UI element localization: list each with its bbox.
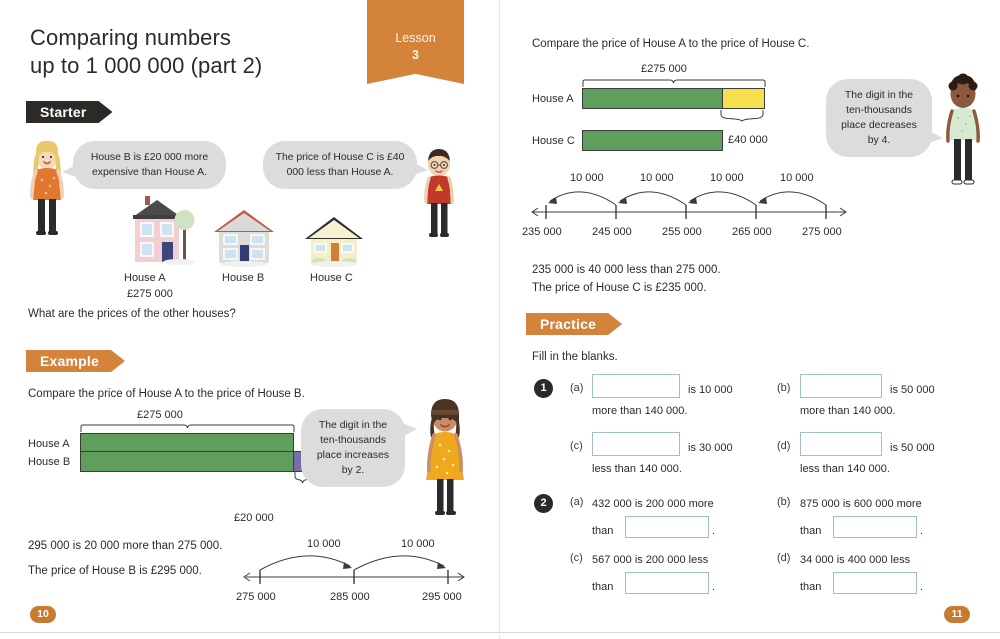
q2b-letter: (b) (777, 496, 790, 508)
example-jump-label-2: 10 000 (401, 538, 435, 550)
q1b-line2: more than 140 000. (800, 403, 895, 420)
page-number-right: 11 (944, 606, 970, 623)
q1a-line2: more than 140 000. (592, 403, 687, 420)
right-bracket-label: £275 000 (641, 63, 687, 75)
house-b-name: House B (222, 272, 264, 284)
page-title: Comparing numbers up to 1 000 000 (part … (30, 24, 360, 80)
example-prompt: Compare the price of House A to the pric… (28, 386, 305, 404)
example-heading: Example (26, 350, 125, 372)
house-a-illustration (121, 190, 199, 268)
boy-character-green (938, 72, 988, 192)
q2a-than: than (592, 523, 613, 540)
q2b-line1: 875 000 is 600 000 more (800, 496, 922, 513)
q1a-letter: (a) (570, 382, 583, 394)
right-prompt: Compare the price of House A to the pric… (532, 36, 809, 54)
q2b-than: than (800, 523, 821, 540)
boy-character-red (417, 148, 461, 240)
q2c-blank[interactable] (625, 572, 709, 594)
example-tick-label-1: 275 000 (236, 591, 276, 603)
page-title-line2: up to 1 000 000 (part 2) (30, 52, 360, 80)
example-bar-b-label: House B (28, 456, 70, 468)
girl-character-dress (418, 395, 472, 518)
right-bar-c-label: House C (532, 135, 575, 147)
right-tick-label-2: 245 000 (592, 226, 632, 238)
house-a-name: House A (124, 272, 166, 284)
right-jump-label-1: 10 000 (570, 172, 604, 184)
right-bar-house-a (582, 88, 765, 109)
q2d-blank[interactable] (833, 572, 917, 594)
q2a-blank[interactable] (625, 516, 709, 538)
question-2-number: 2 (534, 494, 553, 513)
starter-heading: Starter (26, 101, 113, 123)
bar-segment-green (583, 89, 722, 108)
example-bracket-label: £275 000 (137, 409, 183, 421)
q2a-letter: (a) (570, 496, 583, 508)
right-bar-house-c (582, 130, 723, 151)
bar-segment-yellow (722, 89, 764, 108)
left-page: Comparing numbers up to 1 000 000 (part … (0, 0, 500, 639)
example-number-line (236, 552, 476, 588)
bar-segment-green (81, 452, 293, 471)
footer-rule-left (0, 632, 499, 633)
q1d-after: is 50 000 (890, 440, 935, 457)
q2a-line1: 432 000 is 200 000 more (592, 496, 714, 513)
example-top-bracket (80, 424, 295, 433)
right-jump-label-3: 10 000 (710, 172, 744, 184)
right-jump-label-2: 10 000 (640, 172, 674, 184)
lesson-label: Lesson (395, 31, 435, 45)
example-diff-label: £20 000 (234, 512, 274, 524)
q2d-than: than (800, 579, 821, 596)
house-c-name: House C (310, 272, 353, 284)
example-tick-label-3: 295 000 (422, 591, 462, 603)
q1d-letter: (d) (777, 440, 790, 452)
q2b-blank[interactable] (833, 516, 917, 538)
example-bar-a-label: House A (28, 438, 70, 450)
girl-character-blonde (24, 140, 70, 238)
practice-heading: Practice (526, 313, 622, 335)
example-jump-label-1: 10 000 (307, 538, 341, 550)
q2c-period: . (712, 579, 715, 596)
right-tick-label-4: 265 000 (732, 226, 772, 238)
example-conclusion-2: The price of House B is £295 000. (28, 563, 202, 581)
right-diff-label: £40 000 (728, 134, 768, 146)
example-bar-house-b (80, 451, 311, 472)
q1b-blank[interactable] (800, 374, 882, 398)
q2d-line1: 34 000 is 400 000 less (800, 552, 910, 569)
example-conclusion-1: 295 000 is 20 000 more than 275 000. (28, 538, 222, 556)
q2c-line1: 567 000 is 200 000 less (592, 552, 708, 569)
q1a-blank[interactable] (592, 374, 680, 398)
house-c-illustration (299, 211, 369, 269)
q1b-after: is 50 000 (890, 382, 935, 399)
bar-segment-green (583, 131, 722, 150)
q2c-than: than (592, 579, 613, 596)
right-tick-label-3: 255 000 (662, 226, 702, 238)
house-b-illustration (209, 202, 279, 268)
lesson-banner: Lesson 3 (367, 0, 464, 84)
q1c-line2: less than 140 000. (592, 461, 682, 478)
example-bubble: The digit in the ten-thousands place inc… (301, 409, 405, 487)
q2b-period: . (920, 523, 923, 540)
q1c-letter: (c) (570, 440, 583, 452)
right-diff-brace (720, 110, 766, 122)
q2c-letter: (c) (570, 552, 583, 564)
right-bubble: The digit in the ten-thousands place dec… (826, 79, 932, 157)
question-1-number: 1 (534, 379, 553, 398)
lesson-number: 3 (367, 47, 464, 64)
starter-bubble-boy: The price of House C is £40 000 less tha… (263, 141, 417, 189)
page-title-line1: Comparing numbers (30, 24, 360, 52)
q1b-letter: (b) (777, 382, 790, 394)
starter-question: What are the prices of the other houses? (28, 306, 236, 324)
starter-bubble-girl: House B is £20 000 more expensive than H… (73, 141, 226, 189)
right-conclusion-2: The price of House C is £235 000. (532, 280, 707, 298)
right-tick-label-1: 235 000 (522, 226, 562, 238)
q1c-after: is 30 000 (688, 440, 733, 457)
right-number-line (524, 186, 854, 222)
right-jump-label-4: 10 000 (780, 172, 814, 184)
q1c-blank[interactable] (592, 432, 680, 456)
footer-rule-right (500, 632, 1000, 633)
right-top-bracket (582, 79, 766, 88)
q1d-blank[interactable] (800, 432, 882, 456)
q2a-period: . (712, 523, 715, 540)
q2d-period: . (920, 579, 923, 596)
house-a-price: £275 000 (127, 288, 173, 300)
right-tick-label-5: 275 000 (802, 226, 842, 238)
practice-instruction: Fill in the blanks. (532, 349, 618, 367)
right-conclusion-1: 235 000 is 40 000 less than 275 000. (532, 262, 721, 280)
q2d-letter: (d) (777, 552, 790, 564)
right-page: Compare the price of House A to the pric… (500, 0, 1000, 639)
q1a-after: is 10 000 (688, 382, 733, 399)
page-number-left: 10 (30, 606, 56, 623)
q1d-line2: less than 140 000. (800, 461, 890, 478)
right-bar-a-label: House A (532, 93, 574, 105)
example-tick-label-2: 285 000 (330, 591, 370, 603)
